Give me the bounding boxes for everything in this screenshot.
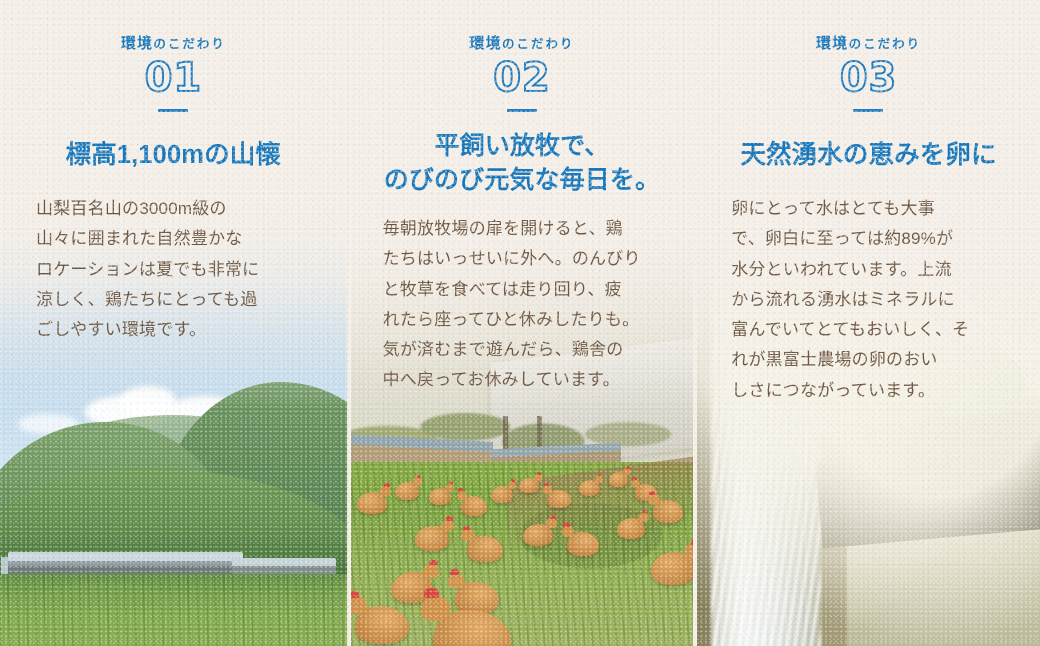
chicken-icon — [547, 490, 571, 508]
chicken-icon — [653, 500, 683, 523]
chicken-icon — [355, 606, 409, 644]
feature-column-03: 環境のこだわり 03 天然湧水の恵みを卵に 卵にとって水はとても大事 で、卵白に… — [693, 0, 1040, 646]
divider-rule — [507, 109, 537, 112]
chicken-icon — [415, 526, 449, 551]
chicken-icon — [429, 488, 451, 505]
chicken-icon — [357, 492, 387, 514]
divider-rule — [853, 109, 883, 112]
chicken-icon — [461, 496, 487, 516]
chicken-icon — [523, 524, 553, 546]
column-body-text: 毎朝放牧場の扉を開けると、鶏 たちはいっせいに外へ。のんびり と牧草を食べては走… — [377, 214, 668, 396]
column-body-text: 山梨百名山の3000m級の 山々に囲まれた自然豊かな ロケーションは夏でも非常に… — [26, 194, 321, 345]
chicken-icon — [609, 472, 628, 487]
eyebrow-kana: のこだわり — [153, 37, 226, 51]
feature-columns: 環境のこだわり 01 標高1,100mの山懐 山梨百名山の3000m級の 山々に… — [0, 0, 1040, 646]
column-heading: 標高1,100mの山懐 — [26, 138, 321, 172]
eyebrow-kanji: 環境 — [816, 35, 849, 52]
feature-column-01: 環境のこだわり 01 標高1,100mの山懐 山梨百名山の3000m級の 山々に… — [0, 0, 347, 646]
eyebrow-kana: のこだわり — [502, 37, 575, 51]
step-number: 03 — [723, 58, 1014, 98]
column-heading: 天然湧水の恵みを卵に — [723, 138, 1014, 172]
feature-column-02: 環境のこだわり 02 平飼い放牧で、 のびのび元気な毎日を。 毎朝放牧場の扉を開… — [347, 0, 694, 646]
column-body-text: 卵にとって水はとても大事 で、卵白に至っては約89%が 水分といわれています。上… — [723, 194, 1014, 406]
eyebrow-kanji: 環境 — [121, 35, 154, 52]
column-text-01: 環境のこだわり 01 標高1,100mの山懐 山梨百名山の3000m級の 山々に… — [0, 32, 347, 345]
chicken-icon — [491, 486, 513, 503]
eyebrow-kana: のこだわり — [849, 37, 922, 51]
chicken-icon — [395, 482, 419, 500]
chicken-icon — [617, 518, 645, 539]
grass-field — [0, 574, 347, 646]
chicken-icon — [467, 536, 503, 562]
step-number: 01 — [26, 58, 321, 98]
column-text-03: 環境のこだわり 03 天然湧水の恵みを卵に 卵にとって水はとても大事 で、卵白に… — [697, 32, 1040, 406]
step-number: 02 — [377, 58, 668, 98]
column-heading: 平飼い放牧で、 のびのび元気な毎日を。 — [377, 130, 668, 197]
column-text-02: 環境のこだわり 02 平飼い放牧で、 のびのび元気な毎日を。 毎朝放牧場の扉を開… — [351, 32, 694, 396]
chicken-icon — [567, 532, 599, 556]
eyebrow-kanji: 環境 — [469, 35, 502, 52]
chicken-icon — [519, 478, 539, 493]
chicken-icon — [651, 552, 694, 585]
eyebrow-label: 環境のこだわり — [723, 32, 1014, 53]
eyebrow-label: 環境のこだわり — [377, 32, 668, 53]
eyebrow-label: 環境のこだわり — [26, 32, 321, 53]
divider-rule — [158, 109, 188, 112]
chicken-icon — [579, 480, 600, 496]
